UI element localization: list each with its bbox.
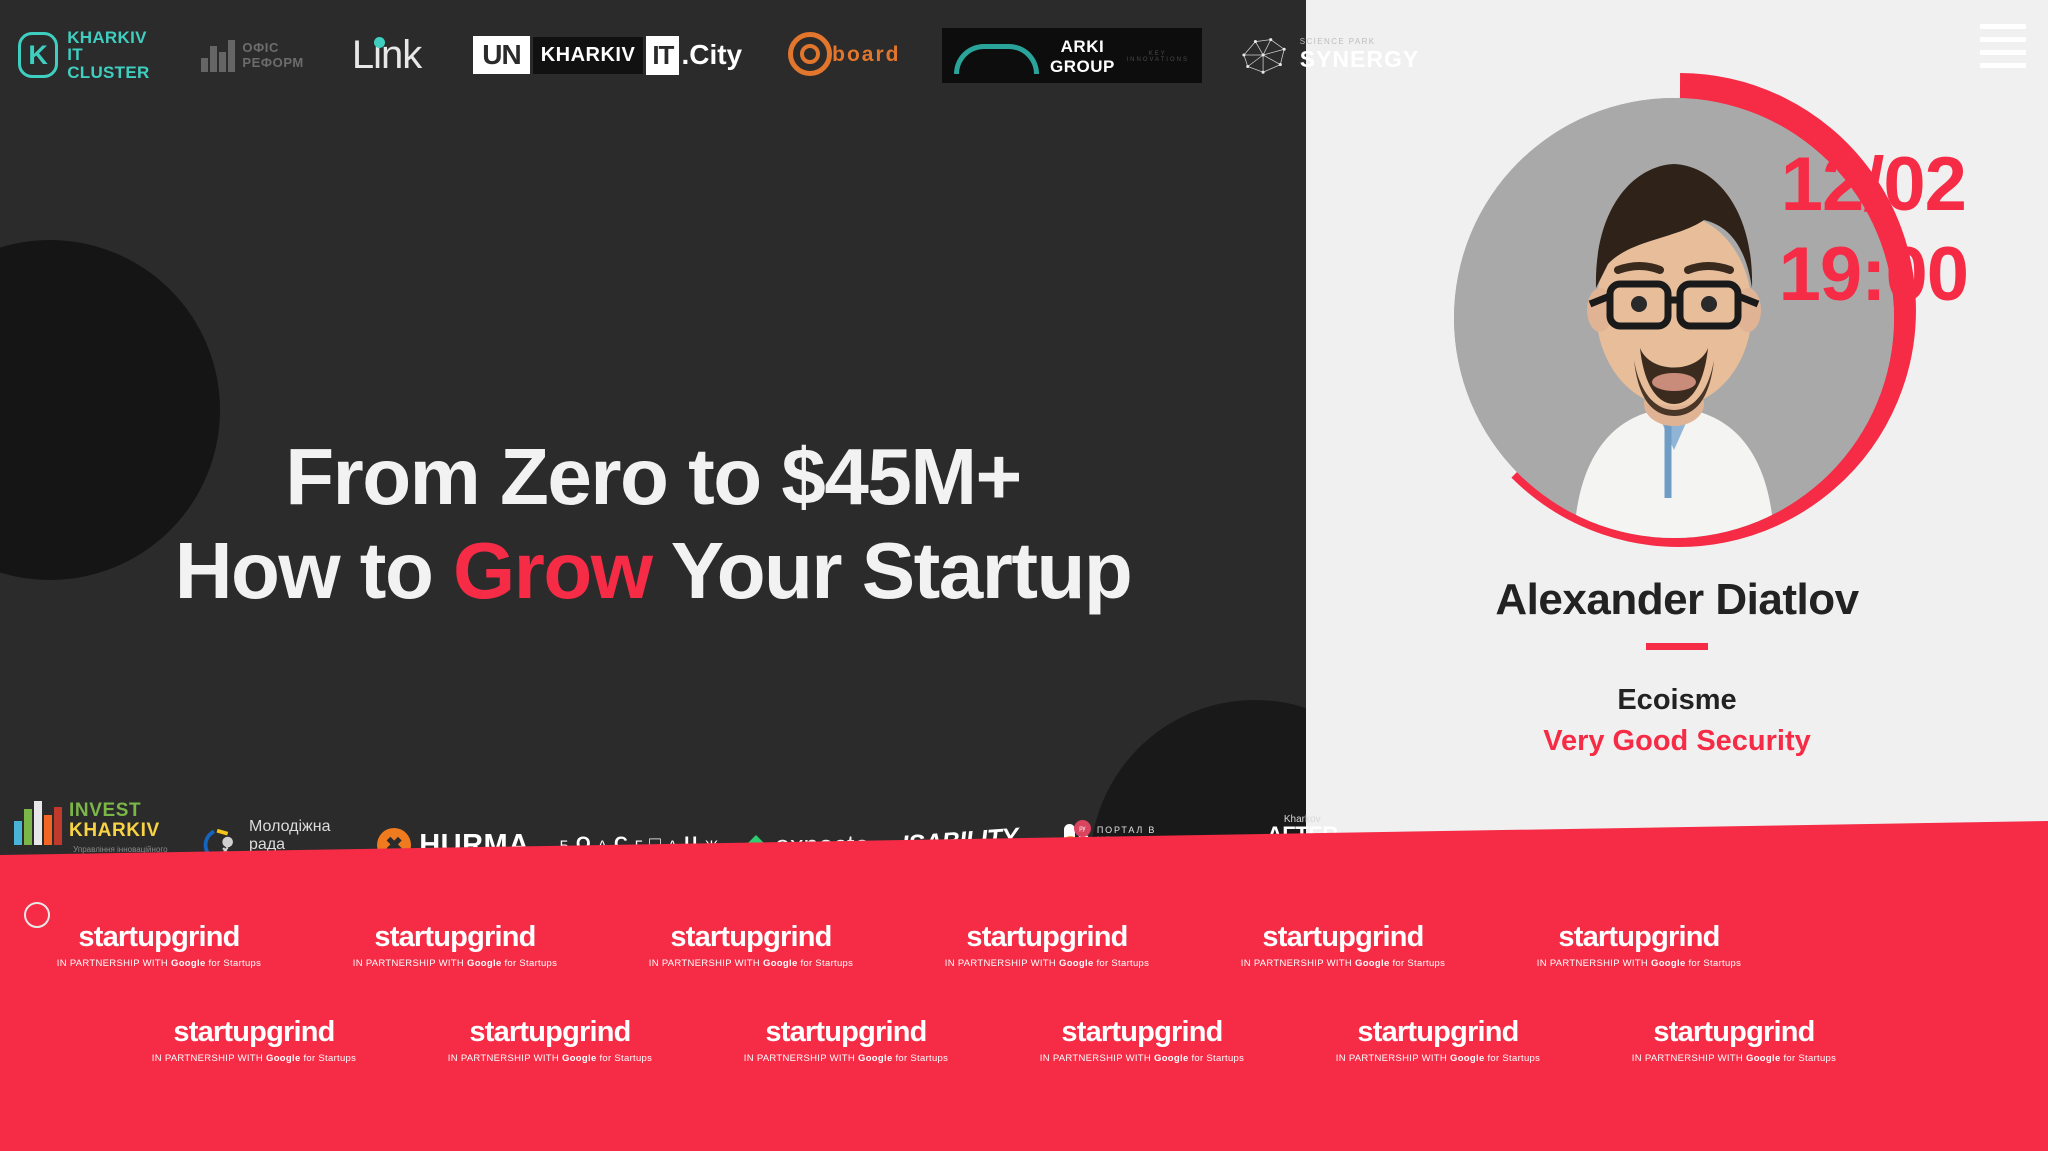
startupgrind-row-2: startupgrindIN PARTNERSHIP WITH Google f… — [150, 1016, 2048, 1064]
partnership-suffix: for Startups — [502, 958, 558, 969]
arki-label: ARKI GROUP — [1039, 37, 1126, 77]
partnership-suffix: for Startups — [893, 1053, 949, 1064]
partnership-prefix: IN PARTNERSHIP WITH — [1040, 1053, 1154, 1064]
partnership-prefix: IN PARTNERSHIP WITH — [1336, 1053, 1450, 1064]
partnership-suffix: for Startups — [1094, 958, 1150, 969]
unit-city-label: .City — [681, 39, 742, 71]
startupgrind-lockup: startupgrindIN PARTNERSHIP WITH Google f… — [1239, 921, 1447, 969]
brain-network-icon — [1236, 32, 1294, 78]
startupgrind-brand: startupgrind — [150, 1016, 358, 1049]
unit-it-label: IT — [646, 36, 679, 75]
startupgrind-partnership-line: IN PARTNERSHIP WITH Google for Startups — [742, 1053, 950, 1064]
partnership-prefix: IN PARTNERSHIP WITH — [152, 1053, 266, 1064]
unit-kharkiv-label: KHARKIV — [530, 37, 647, 74]
speaker-name: Alexander Diatlov — [1306, 575, 2048, 625]
speaker-company-1: Ecoisme — [1306, 684, 2048, 717]
headline-line-1: From Zero to $45M+ — [0, 430, 1306, 524]
board-knot-icon — [788, 32, 832, 76]
obraz-badge-2: ру — [1074, 820, 1091, 837]
logo-ofis-reform[interactable]: ОФІС РЕФОРМ — [201, 38, 303, 72]
startupgrind-lockup: startupgrindIN PARTNERSHIP WITH Google f… — [351, 921, 559, 969]
event-date: 12/02 — [1779, 140, 1968, 230]
event-poster: K KHARKIV IT CLUSTER ОФІС РЕФОРМ Link UN… — [0, 0, 2048, 1151]
partnership-google: Google — [1746, 1053, 1781, 1064]
startupgrind-brand: startupgrind — [1630, 1016, 1838, 1049]
startupgrind-lockup: startupgrindIN PARTNERSHIP WITH Google f… — [1535, 921, 1743, 969]
speaker-info: Alexander Diatlov Ecoisme Very Good Secu… — [1306, 575, 2048, 758]
partnership-prefix: IN PARTNERSHIP WITH — [353, 958, 467, 969]
partnership-google: Google — [1355, 958, 1390, 969]
startupgrind-partnership-line: IN PARTNERSHIP WITH Google for Startups — [150, 1053, 358, 1064]
partnership-google: Google — [266, 1053, 301, 1064]
scroll-indicator-icon[interactable] — [24, 902, 50, 928]
logo-unit-city[interactable]: UN KHARKIV IT .City — [473, 36, 742, 75]
kic-label-line1: KHARKIV — [67, 29, 155, 47]
partnership-suffix: for Startups — [301, 1053, 357, 1064]
event-time: 19:00 — [1779, 230, 1968, 320]
invest-label-line2: KHARKIV — [69, 821, 172, 841]
partnership-google: Google — [1651, 958, 1686, 969]
partnership-google: Google — [562, 1053, 597, 1064]
headline-suffix: Your Startup — [651, 526, 1131, 615]
partnership-suffix: for Startups — [597, 1053, 653, 1064]
partnership-suffix: for Startups — [1686, 958, 1742, 969]
speaker-divider — [1646, 643, 1708, 650]
startupgrind-brand: startupgrind — [351, 921, 559, 954]
partnership-google: Google — [1450, 1053, 1485, 1064]
startupgrind-partnership-line: IN PARTNERSHIP WITH Google for Startups — [943, 958, 1151, 969]
kharkiv-it-cluster-icon: K — [18, 32, 58, 78]
startupgrind-lockup: startupgrindIN PARTNERSHIP WITH Google f… — [943, 921, 1151, 969]
headline-prefix: How to — [175, 526, 453, 615]
partnership-prefix: IN PARTNERSHIP WITH — [57, 958, 171, 969]
startupgrind-lockup: startupgrindIN PARTNERSHIP WITH Google f… — [150, 1016, 358, 1064]
headline-line-2: How to Grow Your Startup — [0, 524, 1306, 618]
synergy-label: SYNERGY — [1300, 46, 1419, 73]
startupgrind-footer-band: startupgrindIN PARTNERSHIP WITH Google f… — [0, 821, 2048, 1151]
startupgrind-brand: startupgrind — [55, 921, 263, 954]
headline-accent-word: Grow — [453, 526, 651, 615]
startupgrind-partnership-line: IN PARTNERSHIP WITH Google for Startups — [647, 958, 855, 969]
logo-link[interactable]: Link — [352, 33, 421, 78]
event-headline: From Zero to $45M+ How to Grow Your Star… — [0, 430, 1306, 619]
event-datetime: 12/02 19:00 — [1779, 140, 1968, 319]
startupgrind-partnership-line: IN PARTNERSHIP WITH Google for Startups — [1334, 1053, 1542, 1064]
partnership-prefix: IN PARTNERSHIP WITH — [1632, 1053, 1746, 1064]
startupgrind-partnership-line: IN PARTNERSHIP WITH Google for Startups — [1038, 1053, 1246, 1064]
startupgrind-brand: startupgrind — [1535, 921, 1743, 954]
board-label: board — [832, 43, 900, 67]
city-skyline-icon — [14, 801, 62, 845]
synergy-small-label: SCIENCE PARK — [1300, 37, 1419, 46]
startupgrind-partnership-line: IN PARTNERSHIP WITH Google for Startups — [1239, 958, 1447, 969]
partnership-google: Google — [858, 1053, 893, 1064]
partnership-google: Google — [763, 958, 798, 969]
logo-science-park-synergy[interactable]: SCIENCE PARK SYNERGY — [1236, 32, 1419, 78]
startupgrind-brand: startupgrind — [1239, 921, 1447, 954]
arki-tagline: KEY INNOVATIONS — [1126, 51, 1190, 63]
arki-arc-icon — [954, 44, 1039, 74]
invest-label-line1: INVEST — [69, 801, 172, 821]
link-label: Link — [352, 33, 421, 78]
partnership-suffix: for Startups — [798, 958, 854, 969]
ofis-label-line1: ОФІС — [242, 40, 303, 55]
startupgrind-lockup: startupgrindIN PARTNERSHIP WITH Google f… — [1630, 1016, 1838, 1064]
link-dot-icon — [374, 37, 385, 48]
startupgrind-lockup: startupgrindIN PARTNERSHIP WITH Google f… — [1038, 1016, 1246, 1064]
startupgrind-brand: startupgrind — [446, 1016, 654, 1049]
partnership-prefix: IN PARTNERSHIP WITH — [1537, 958, 1651, 969]
startupgrind-brand: startupgrind — [742, 1016, 950, 1049]
startupgrind-lockup: startupgrindIN PARTNERSHIP WITH Google f… — [55, 921, 263, 969]
startupgrind-lockup: startupgrindIN PARTNERSHIP WITH Google f… — [742, 1016, 950, 1064]
startupgrind-lockup: startupgrindIN PARTNERSHIP WITH Google f… — [1334, 1016, 1542, 1064]
logo-kharkiv-it-cluster[interactable]: K KHARKIV IT CLUSTER — [18, 29, 155, 82]
partnership-prefix: IN PARTNERSHIP WITH — [945, 958, 1059, 969]
partnership-prefix: IN PARTNERSHIP WITH — [649, 958, 763, 969]
unit-un-label: UN — [473, 36, 529, 74]
partnership-suffix: for Startups — [1390, 958, 1446, 969]
startupgrind-partnership-line: IN PARTNERSHIP WITH Google for Startups — [1535, 958, 1743, 969]
partnership-prefix: IN PARTNERSHIP WITH — [744, 1053, 858, 1064]
building-bars-icon — [201, 38, 235, 72]
kic-label-line2: IT CLUSTER — [67, 46, 155, 81]
logo-board[interactable]: board — [788, 32, 900, 79]
startupgrind-lockup: startupgrindIN PARTNERSHIP WITH Google f… — [446, 1016, 654, 1064]
startupgrind-brand: startupgrind — [943, 921, 1151, 954]
startupgrind-partnership-line: IN PARTNERSHIP WITH Google for Startups — [446, 1053, 654, 1064]
startupgrind-brand: startupgrind — [1334, 1016, 1542, 1049]
speaker-company-2: Very Good Security — [1306, 725, 2048, 758]
partnership-suffix: for Startups — [1781, 1053, 1837, 1064]
partnership-prefix: IN PARTNERSHIP WITH — [448, 1053, 562, 1064]
startupgrind-partnership-line: IN PARTNERSHIP WITH Google for Startups — [55, 958, 263, 969]
ofis-label-line2: РЕФОРМ — [242, 55, 303, 70]
partnership-google: Google — [1059, 958, 1094, 969]
partnership-suffix: for Startups — [1485, 1053, 1541, 1064]
youth-council-label: Молодіжна рада — [249, 818, 343, 854]
hamburger-menu-icon[interactable] — [1980, 24, 2026, 76]
startupgrind-brand: startupgrind — [1038, 1016, 1246, 1049]
startupgrind-brand: startupgrind — [647, 921, 855, 954]
partnership-prefix: IN PARTNERSHIP WITH — [1241, 958, 1355, 969]
startupgrind-partnership-line: IN PARTNERSHIP WITH Google for Startups — [1630, 1053, 1838, 1064]
startupgrind-lockup: startupgrindIN PARTNERSHIP WITH Google f… — [647, 921, 855, 969]
partnership-google: Google — [171, 958, 206, 969]
partnership-google: Google — [1154, 1053, 1189, 1064]
startupgrind-row-1: startupgrindIN PARTNERSHIP WITH Google f… — [55, 921, 2048, 969]
top-sponsor-bar: K KHARKIV IT CLUSTER ОФІС РЕФОРМ Link UN… — [0, 0, 1306, 110]
partnership-suffix: for Startups — [206, 958, 262, 969]
partnership-google: Google — [467, 958, 502, 969]
logo-arki-group[interactable]: ARKI GROUP KEY INNOVATIONS — [942, 28, 1201, 83]
partnership-suffix: for Startups — [1189, 1053, 1245, 1064]
startupgrind-partnership-line: IN PARTNERSHIP WITH Google for Startups — [351, 958, 559, 969]
